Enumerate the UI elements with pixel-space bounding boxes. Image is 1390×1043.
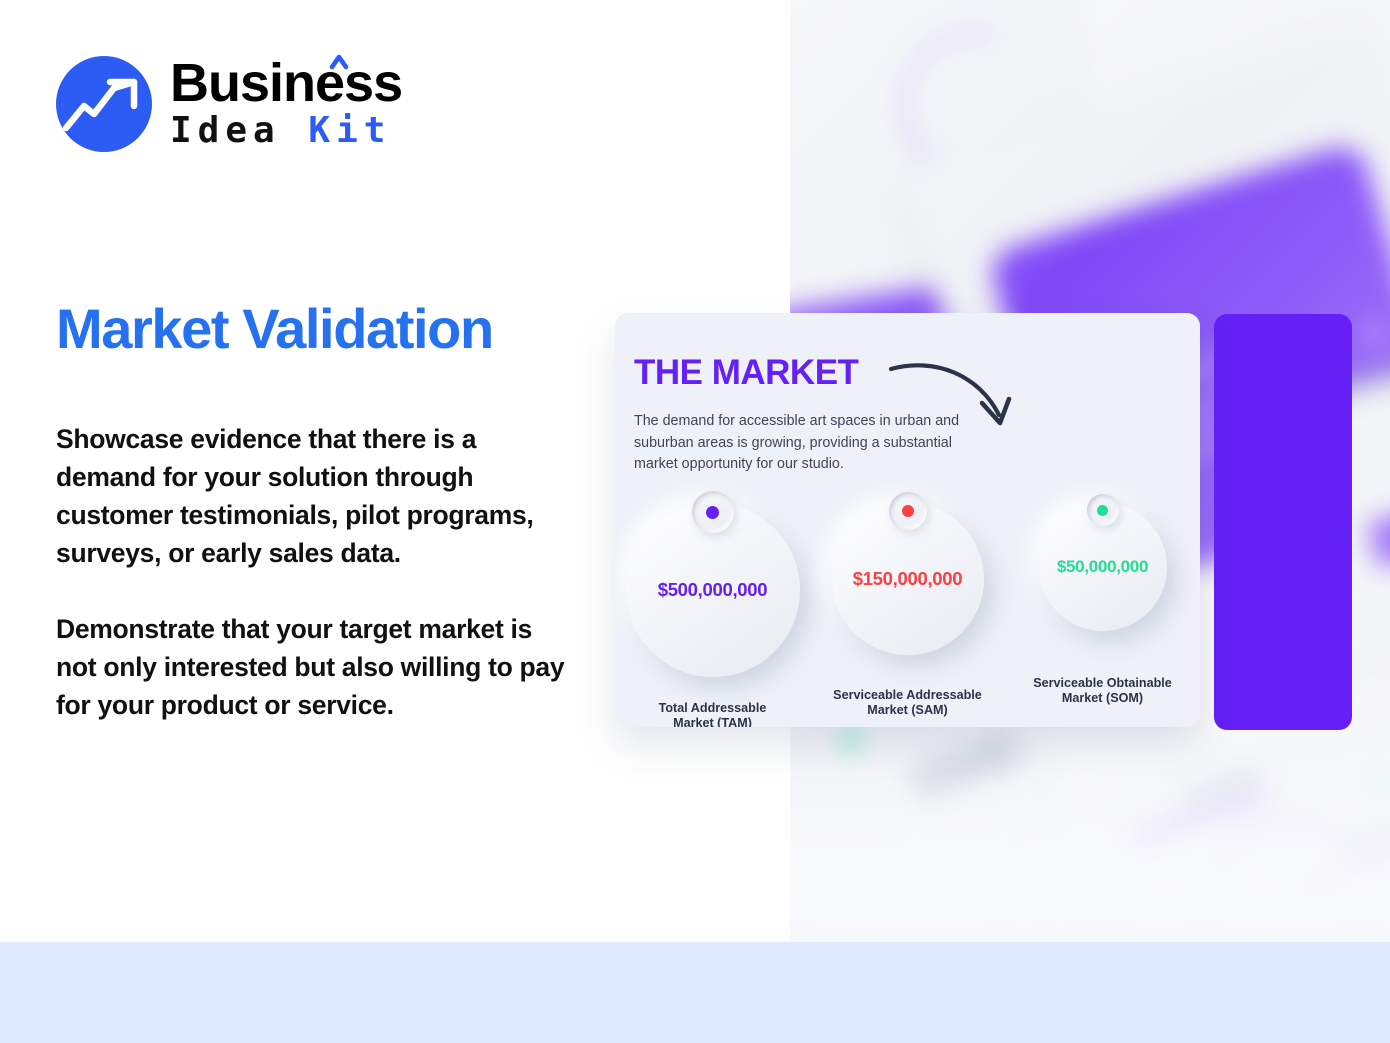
- circumflex-accent-icon: [329, 54, 349, 70]
- market-amount-sam: $150,000,000: [853, 568, 963, 590]
- market-bubble-tam: $500,000,000: [626, 503, 800, 677]
- market-label-sam: Serviceable Addressable Market (SAM): [815, 688, 1000, 718]
- brand-name-top-text: Business: [170, 53, 402, 113]
- market-label-som: Serviceable Obtainable Market (SOM): [1010, 676, 1195, 706]
- curved-arrow-down-right-icon: [887, 353, 1027, 443]
- market-bubble-som: $50,000,000: [1039, 503, 1167, 631]
- market-dot-sam-icon: [889, 492, 927, 530]
- background-photo-bottom-fade: [790, 702, 1390, 942]
- purple-accent-block: [1214, 314, 1352, 730]
- growth-chart-arrow-icon: [56, 56, 152, 152]
- brand-wordmark: Business Idea Kit: [170, 58, 402, 151]
- market-label-sam-line1: Serviceable Addressable: [833, 688, 982, 702]
- brand-name-bottom: Idea Kit: [170, 111, 402, 151]
- card-title: THE MARKET: [634, 353, 858, 393]
- market-column-som[interactable]: $50,000,000 Serviceable Obtainable Marke…: [1013, 503, 1193, 706]
- brand-name-top: Business: [170, 58, 402, 109]
- market-label-tam-line1: Total Addressable: [659, 701, 767, 715]
- market-amount-som: $50,000,000: [1057, 557, 1148, 577]
- page-title: Market Validation: [56, 296, 493, 361]
- market-bubble-sam: $150,000,000: [832, 503, 984, 655]
- body-paragraph-1: Showcase evidence that there is a demand…: [56, 420, 566, 572]
- body-paragraph-2: Demonstrate that your target market is n…: [56, 610, 566, 724]
- market-dot-som-icon: [1087, 494, 1119, 526]
- market-card[interactable]: THE MARKET The demand for accessible art…: [615, 313, 1200, 727]
- market-column-sam[interactable]: $150,000,000 Serviceable Addressable Mar…: [818, 503, 998, 718]
- slide-canvas: Business Idea Kit Market Validation Show…: [0, 0, 1390, 1043]
- market-dot-tam-icon: [692, 491, 734, 533]
- market-label-som-line1: Serviceable Obtainable: [1033, 676, 1172, 690]
- brand-name-kit: Kit: [308, 110, 391, 151]
- bottom-accent-bar: [0, 942, 1390, 1043]
- market-label-som-line2: Market (SOM): [1062, 691, 1143, 705]
- body-copy: Showcase evidence that there is a demand…: [56, 420, 566, 724]
- brand-name-idea: Idea: [170, 110, 281, 151]
- market-amount-tam: $500,000,000: [658, 579, 768, 601]
- market-bubbles-row: $500,000,000 Total Addressable Market (T…: [615, 503, 1200, 727]
- market-label-tam: Total Addressable Market (TAM): [620, 701, 805, 727]
- brand-logo[interactable]: Business Idea Kit: [56, 56, 402, 152]
- market-label-tam-line2: Market (TAM): [673, 716, 752, 727]
- market-label-sam-line2: Market (SAM): [867, 703, 947, 717]
- market-column-tam[interactable]: $500,000,000 Total Addressable Market (T…: [623, 503, 803, 727]
